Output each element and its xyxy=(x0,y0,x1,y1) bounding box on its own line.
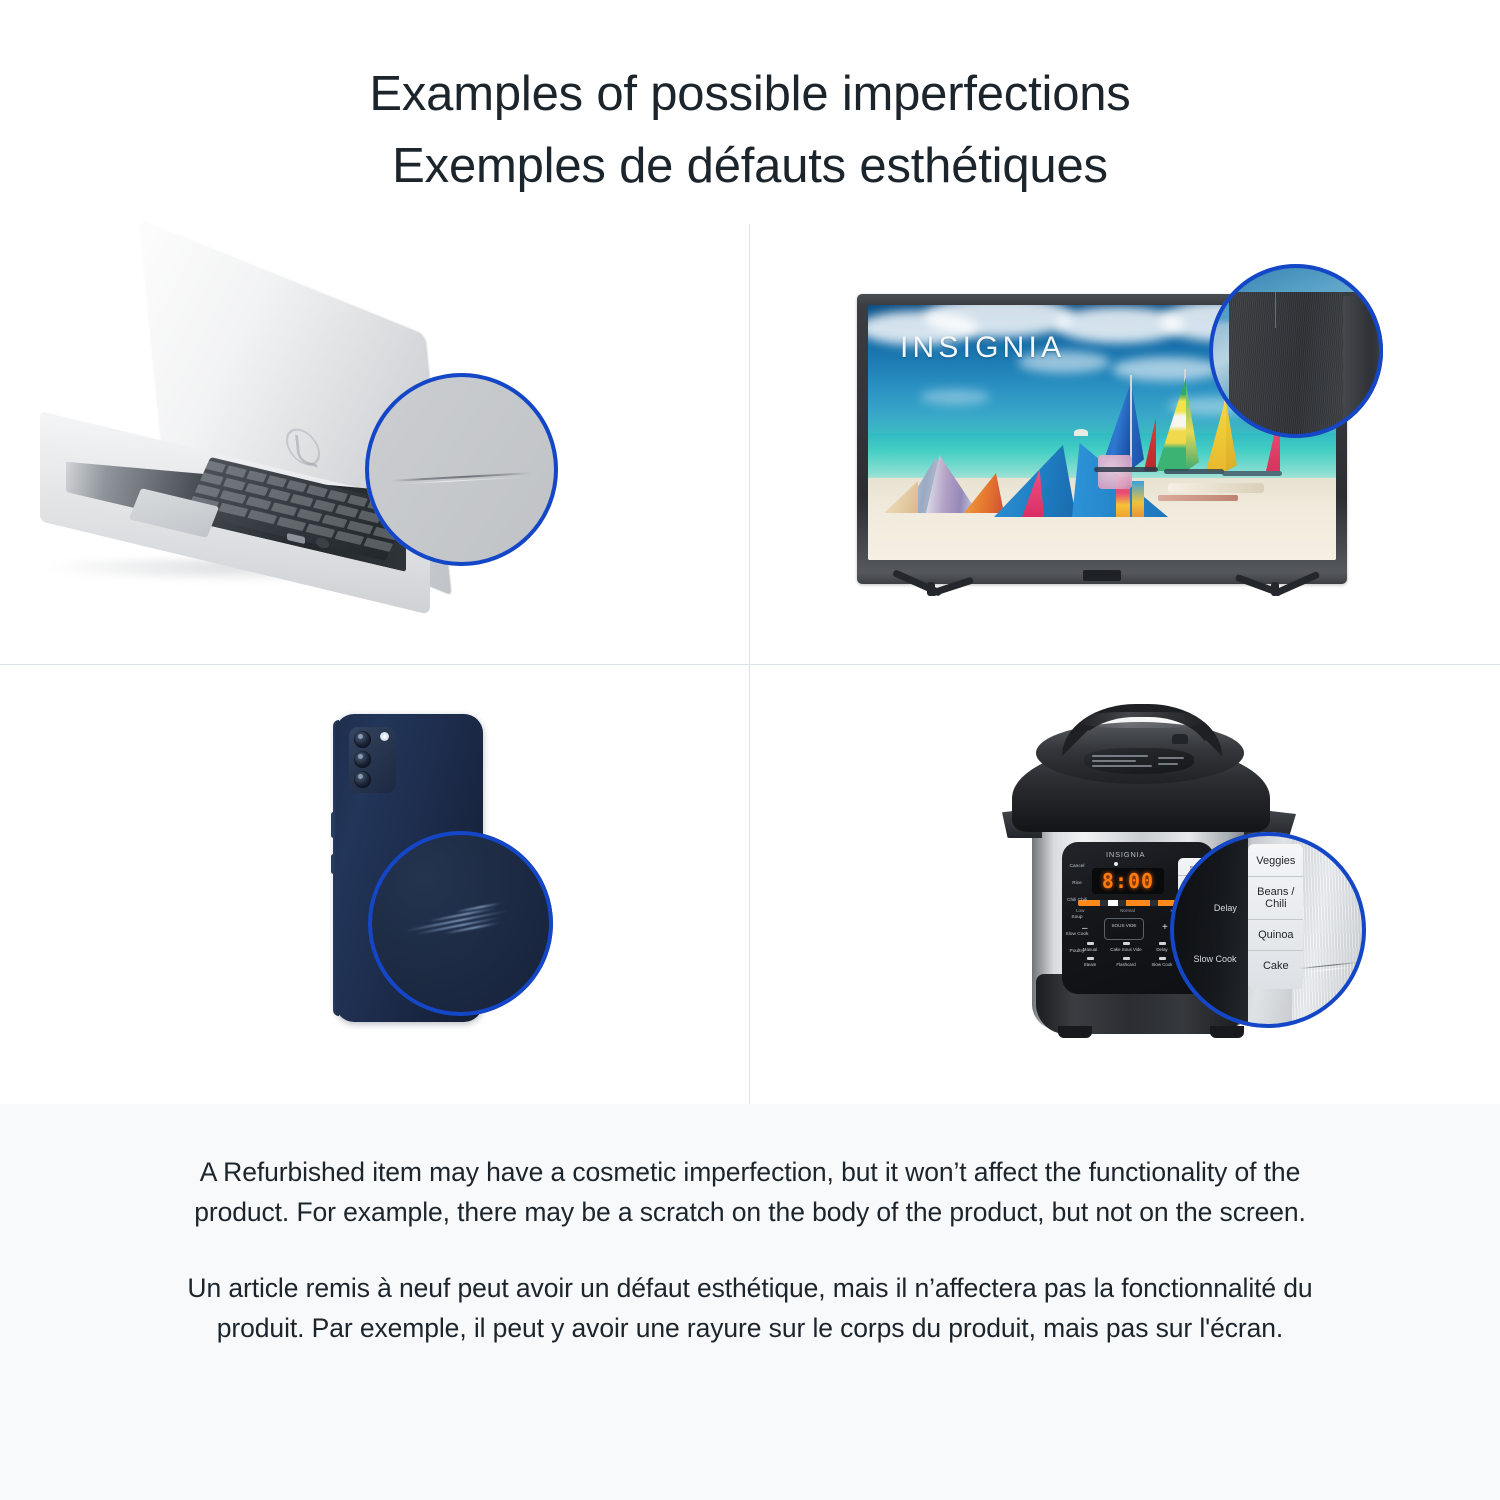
cooker-button-slow-cook[interactable]: Slow Cook xyxy=(1064,926,1090,943)
tv-logo-badge-icon xyxy=(1083,570,1121,581)
cooker-button-rice[interactable]: Rice xyxy=(1064,875,1090,892)
cooker-bubble-key-beans-chili: Beans / Chili xyxy=(1248,877,1303,920)
cooker-foot-left xyxy=(1058,1026,1092,1038)
cooker-button-cake-sous-vide[interactable]: Cake Sous Vide xyxy=(1110,942,1142,952)
cooker-button-soup[interactable]: Soup xyxy=(1064,909,1090,926)
cooker-handle-highlight xyxy=(1076,712,1208,728)
cooker-bubble-key-veggies: Veggies xyxy=(1248,846,1303,877)
cooker-button-steam[interactable]: Steam xyxy=(1074,957,1106,967)
tv-bubble-bezel-seam xyxy=(1275,292,1276,328)
example-cell-laptop xyxy=(0,224,749,664)
laptop-illustration xyxy=(40,282,540,612)
grid-horizontal-divider xyxy=(0,664,1500,665)
example-cell-pressure-cooker: INSIGNIA 8:00 Low Normal High – SOUS VID… xyxy=(749,664,1500,1104)
example-cell-television: INSIGNIA xyxy=(749,224,1500,664)
phone-camera-module xyxy=(349,727,396,793)
cooker-button-chili[interactable]: Chili Chili xyxy=(1064,892,1090,909)
cooker-sous-vide-button[interactable]: SOUS VIDE xyxy=(1104,918,1144,940)
television-illustration: INSIGNIA xyxy=(857,264,1377,634)
footer-paragraph-english: A Refurbished item may have a cosmetic i… xyxy=(150,1152,1350,1232)
tv-bubble-bezel xyxy=(1229,292,1383,438)
cooker-pressure-labels: Low Normal High xyxy=(1076,908,1180,913)
cooker-indicator-led-icon xyxy=(1114,862,1118,866)
phone-scratch-mark xyxy=(404,899,520,954)
cooker-button-cancel[interactable]: Cancel xyxy=(1064,858,1090,875)
phone-camera-lens-2 xyxy=(354,751,371,768)
phone-camera-lens-3 xyxy=(354,771,371,788)
example-cell-smartphone xyxy=(0,664,749,1104)
page-title-french: Exemples de défauts esthétiques xyxy=(0,130,1500,202)
cooker-scratch-mark xyxy=(1299,961,1358,973)
footer-paragraph-french: Un article remis à neuf peut avoir un dé… xyxy=(150,1268,1350,1348)
cooker-button-flashcard[interactable]: Flashcard xyxy=(1110,957,1142,967)
tv-magnified-defect-area xyxy=(1209,264,1383,438)
cooker-mode-button-grid: Manual Cake Sous Vide Delay Steam Flashc… xyxy=(1074,942,1178,968)
page-header: Examples of possible imperfections Exemp… xyxy=(0,0,1500,202)
phone-camera-lens-1 xyxy=(354,731,371,748)
laptop-magnified-defect-area xyxy=(365,373,558,566)
cooker-pressure-normal: Normal xyxy=(1120,908,1135,913)
tv-bubble-bezel-side xyxy=(1343,296,1383,438)
cooker-bubble-key-cake: Cake xyxy=(1248,951,1303,981)
footer-disclaimer: A Refurbished item may have a cosmetic i… xyxy=(0,1104,1500,1500)
refurbished-imperfections-infographic: Examples of possible imperfections Exemp… xyxy=(0,0,1500,1500)
cooker-display: 8:00 xyxy=(1092,868,1164,894)
phone-camera-flash-icon xyxy=(380,732,389,741)
cooker-pressure-bar xyxy=(1078,900,1178,906)
tv-stand-left xyxy=(887,582,979,622)
cooker-bubble-key-column: Veggies Beans / Chili Quinoa Cake xyxy=(1248,844,1303,989)
smartphone-illustration xyxy=(300,694,550,1054)
cooker-brand-label: INSIGNIA xyxy=(1106,850,1145,859)
laptop-scratch-mark xyxy=(391,471,531,481)
phone-magnified-defect-area xyxy=(368,831,553,1016)
cooker-bubble-key-quinoa: Quinoa xyxy=(1248,920,1303,951)
cooker-bubble-panel-dark: Delay Slow Cook xyxy=(1170,832,1248,1028)
tv-brand-logo: INSIGNIA xyxy=(900,331,1065,365)
cooker-display-value: 8:00 xyxy=(1102,869,1154,893)
cooker-button-manual[interactable]: Manual xyxy=(1074,942,1106,952)
cooker-bubble-label-delay: Delay xyxy=(1214,903,1237,914)
tv-stand-right xyxy=(1229,582,1321,622)
page-title-english: Examples of possible imperfections xyxy=(0,58,1500,130)
phone-bubble-background xyxy=(368,831,553,1016)
cooker-bubble-label-slow-cook: Slow Cook xyxy=(1194,954,1237,965)
cooker-plus-button[interactable]: + xyxy=(1162,923,1168,933)
examples-grid: INSIGNIA xyxy=(0,224,1500,1104)
pressure-cooker-illustration: INSIGNIA 8:00 Low Normal High – SOUS VID… xyxy=(984,682,1354,1062)
cooker-magnified-defect-area: Delay Slow Cook Veggies Beans / Chili Qu… xyxy=(1170,832,1366,1028)
